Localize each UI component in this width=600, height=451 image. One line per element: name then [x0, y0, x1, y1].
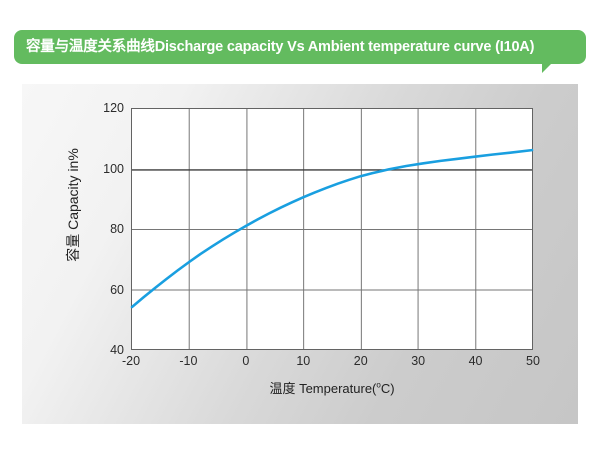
curve-svg — [132, 109, 532, 349]
gridlines-group — [132, 109, 532, 349]
x-tick-label: 50 — [526, 354, 540, 368]
y-tick-label: 100 — [103, 162, 124, 176]
chart-title-banner: 容量与温度关系曲线Discharge capacity Vs Ambient t… — [14, 30, 586, 64]
banner-tail-icon — [542, 63, 552, 73]
chart-canvas: 容量 Capacity in% 406080100120 -20-1001020… — [22, 84, 578, 424]
x-tick-label: 30 — [411, 354, 425, 368]
plot-area — [131, 108, 533, 350]
data-series-group — [132, 150, 532, 307]
x-tick-label: 20 — [354, 354, 368, 368]
page-title: 容量与温度关系曲线Discharge capacity Vs Ambient t… — [26, 40, 534, 55]
x-axis-tick-labels: -20-1001020304050 — [131, 354, 533, 372]
x-tick-label: 40 — [469, 354, 483, 368]
y-tick-label: 80 — [110, 222, 124, 236]
x-axis-title: 温度 Temperature(oC) — [131, 378, 533, 397]
y-axis-tick-labels: 406080100120 — [82, 108, 124, 350]
y-axis-title: 容量 Capacity in% — [63, 90, 83, 320]
x-tick-label: 0 — [242, 354, 249, 368]
data-line-0 — [132, 150, 532, 307]
x-tick-label: 10 — [296, 354, 310, 368]
x-tick-label: -20 — [122, 354, 140, 368]
x-tick-label: -10 — [179, 354, 197, 368]
y-tick-label: 120 — [103, 101, 124, 115]
x-axis-title-main: 温度 Temperature( — [269, 381, 376, 396]
x-axis-title-unit: C) — [381, 381, 395, 396]
y-tick-label: 60 — [110, 283, 124, 297]
